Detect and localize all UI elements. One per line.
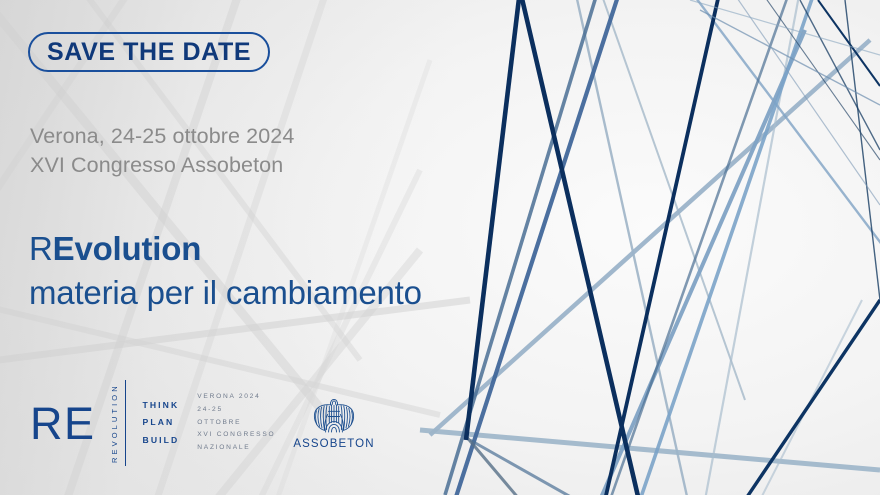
congress-info-item: 24-25 <box>197 404 275 417</box>
assobeton-eagle-icon <box>311 398 357 436</box>
re-monogram: RE <box>30 401 96 446</box>
congress-info-item: VERONA 2024 <box>197 391 275 404</box>
pillar-item: PLAN <box>143 414 180 432</box>
save-the-date-badge: SAVE THE DATE <box>28 32 270 72</box>
event-location-date: Verona, 24-25 ottobre 2024 <box>30 122 294 151</box>
headline-title: REvolution <box>29 232 422 265</box>
save-the-date-label: SAVE THE DATE <box>47 40 251 65</box>
assobeton-wordmark: ASSOBETON <box>293 438 374 450</box>
congress-info-item: OTTOBRE <box>197 417 275 430</box>
congress-info-item: XVI CONGRESSO <box>197 429 275 442</box>
assobeton-logo: ASSOBETON <box>293 398 374 450</box>
congress-info-item: NAZIONALE <box>197 442 275 455</box>
event-edition: XVI Congresso Assobeton <box>30 151 294 180</box>
lockup-divider <box>125 380 126 466</box>
brand-lockup: RE REVOLUTION THINK PLAN BUILD VERONA 20… <box>30 378 375 468</box>
congress-info-list: VERONA 2024 24-25 OTTOBRE XVI CONGRESSO … <box>197 391 275 454</box>
pillar-item: BUILD <box>143 432 180 450</box>
pillar-item: THINK <box>143 397 180 415</box>
headline-subtitle: materia per il cambiamento <box>29 276 422 309</box>
headline: REvolution materia per il cambiamento <box>29 232 422 309</box>
save-the-date-poster: SAVE THE DATE Verona, 24-25 ottobre 2024… <box>0 0 880 495</box>
pillars-list: THINK PLAN BUILD <box>143 397 180 450</box>
revolution-vertical-label: REVOLUTION <box>110 380 119 466</box>
headline-title-lead: R <box>29 230 53 267</box>
headline-title-strong: Evolution <box>53 230 202 267</box>
event-meta: Verona, 24-25 ottobre 2024 XVI Congresso… <box>30 122 294 180</box>
